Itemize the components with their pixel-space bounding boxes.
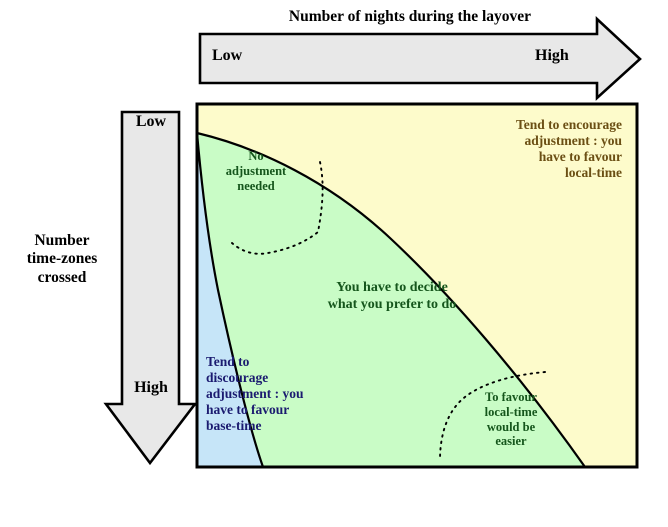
vertical-axis-low-label: Low: [122, 113, 180, 132]
region-label-encourage-adjustment: Tend to encourage adjustment : you have …: [466, 117, 622, 181]
region-label-favour-local-time-easier: To favour local-time would be easier: [456, 390, 566, 449]
vertical-axis-high-label: High: [122, 379, 180, 398]
region-label-discourage-adjustment: Tend to discourage adjustment : you have…: [206, 354, 366, 434]
diagram-canvas: Number of nights during the layover Low …: [0, 0, 668, 527]
horizontal-axis-title: Number of nights during the layover: [200, 8, 620, 26]
region-label-no-adjustment-needed: No adjustment needed: [200, 149, 312, 193]
vertical-axis-arrow: [106, 112, 195, 463]
horizontal-axis-high-label: High: [535, 47, 569, 66]
region-label-decide-yourself: You have to decide what you prefer to do: [282, 280, 502, 313]
horizontal-axis-low-label: Low: [212, 47, 242, 66]
vertical-axis-title: Number time-zones crossed: [6, 232, 118, 287]
horizontal-axis-arrow: [200, 19, 640, 98]
